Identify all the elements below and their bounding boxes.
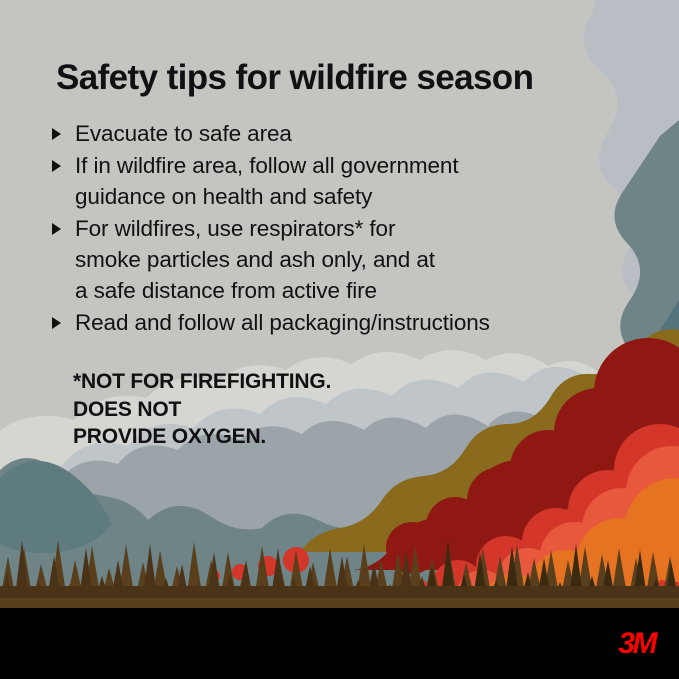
list-item-text: If in wildfire area, follow all governme… <box>75 150 458 212</box>
triangle-right-icon <box>52 223 61 235</box>
disclaimer-text: *NOT FOR FIREFIGHTING. DOES NOT PROVIDE … <box>73 368 533 451</box>
list-item: Read and follow all packaging/instructio… <box>52 307 612 338</box>
list-item-text: For wildfires, use respirators* for smok… <box>75 213 435 306</box>
triangle-right-icon <box>52 128 61 140</box>
brand-logo-3m: 3M <box>618 629 655 659</box>
safety-tips-list: Evacuate to safe area If in wildfire are… <box>52 118 612 339</box>
list-item: For wildfires, use respirators* for smok… <box>52 213 612 306</box>
page-title: Safety tips for wildfire season <box>56 60 656 97</box>
triangle-right-icon <box>52 317 61 329</box>
list-item-text: Evacuate to safe area <box>75 118 292 149</box>
list-item: If in wildfire area, follow all governme… <box>52 150 612 212</box>
wildfire-safety-poster: Safety tips for wildfire season Evacuate… <box>0 0 679 679</box>
triangle-right-icon <box>52 160 61 172</box>
list-item: Evacuate to safe area <box>52 118 612 149</box>
list-item-text: Read and follow all packaging/instructio… <box>75 307 490 338</box>
